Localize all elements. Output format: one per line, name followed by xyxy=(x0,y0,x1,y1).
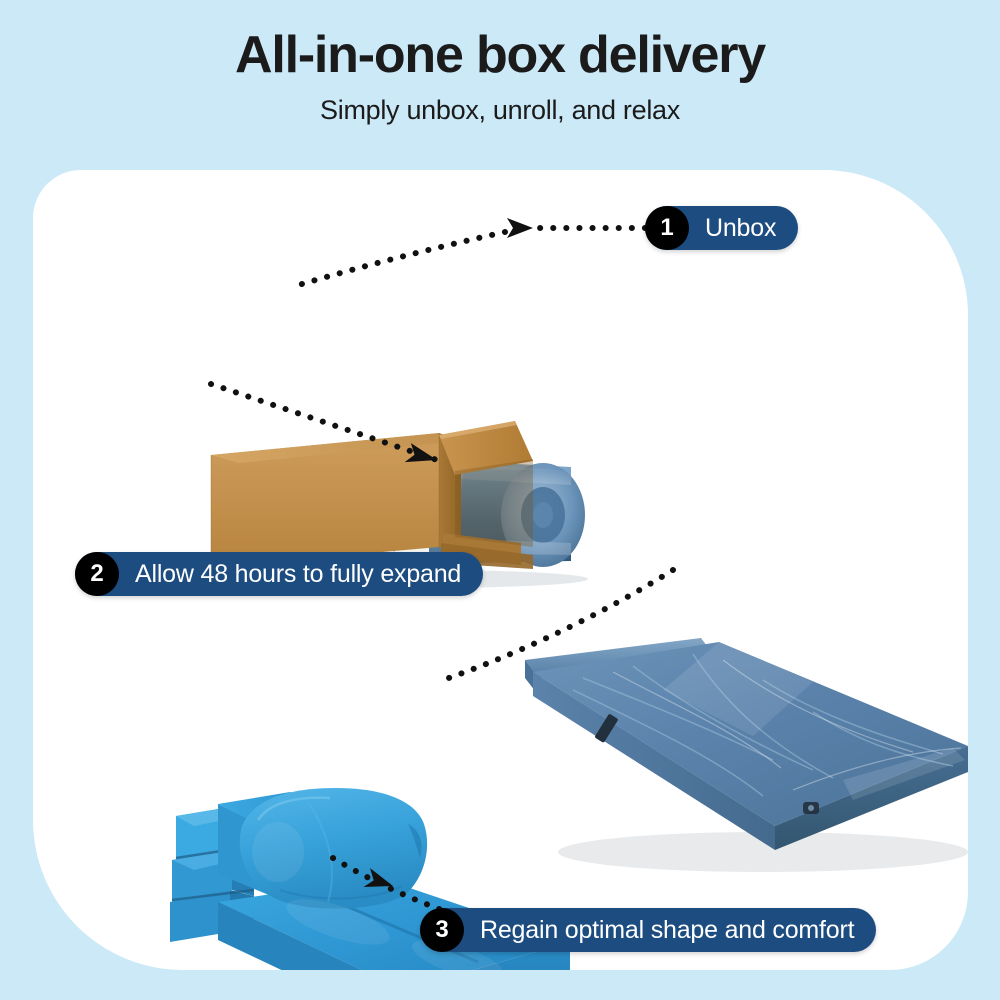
step-badge-1[interactable]: 1 Unbox xyxy=(645,206,798,250)
page-header: All-in-one box delivery Simply unbox, un… xyxy=(0,0,1000,170)
step-badge-2[interactable]: 2 Allow 48 hours to fully expand xyxy=(75,552,483,596)
arrow-badge1-to-box xyxy=(295,218,645,286)
step-label-3: Regain optimal shape and comfort xyxy=(464,916,854,945)
page-subtitle: Simply unbox, unroll, and relax xyxy=(320,95,680,126)
step-badge-3[interactable]: 3 Regain optimal shape and comfort xyxy=(420,908,876,952)
step-number-2: 2 xyxy=(75,552,119,596)
step-number-3: 3 xyxy=(420,908,464,952)
step-number-1: 1 xyxy=(645,206,689,250)
page-title: All-in-one box delivery xyxy=(235,28,765,83)
step-label-2: Allow 48 hours to fully expand xyxy=(119,560,461,589)
step-label-1: Unbox xyxy=(689,214,776,243)
arrowhead-1 xyxy=(507,218,533,238)
